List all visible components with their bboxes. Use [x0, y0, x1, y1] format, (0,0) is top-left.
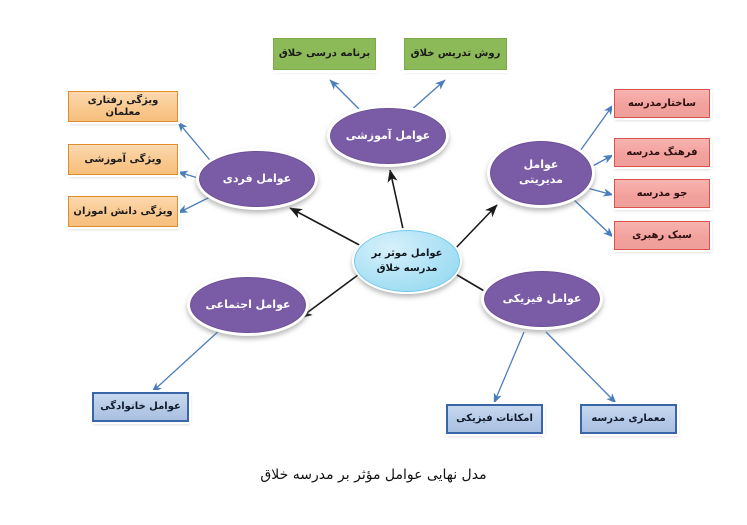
leaf-box-student-trait[interactable]: ویژگی دانش اموزان	[68, 196, 178, 227]
center-node-line1: عوامل موثر بر	[371, 248, 442, 259]
leaf-box-leadership-style[interactable]: سبک رهبری	[614, 221, 710, 250]
leaf-label-teacher-behaviour-trait: ویژگی رفتاری معلمان	[73, 95, 173, 119]
branch-label-physical: عوامل فیزیکی	[484, 292, 600, 307]
leaf-label-family-factors: عوامل خانوادگی	[98, 401, 183, 413]
center-node-line2: مدرسه خلاق	[377, 263, 438, 274]
branch-label-educational: عوامل آموزشی	[330, 129, 446, 144]
branch-label-social: عوامل اجتماعی	[190, 298, 306, 313]
connector-individual-student-trait	[178, 196, 212, 213]
leaf-label-leadership-style: سبک رهبری	[619, 230, 705, 242]
connector-managerial-leadership	[570, 196, 613, 237]
leaf-box-educational-trait[interactable]: ویژگی آموزشی	[68, 144, 178, 175]
leaf-box-teacher-behaviour-trait[interactable]: ویژگی رفتاری معلمان	[68, 91, 178, 122]
branch-label-managerial-line1: عوامل	[524, 158, 559, 171]
center-node-label: عوامل موثر بر مدرسه خلاق	[354, 246, 460, 276]
branch-node-managerial[interactable]: عوامل مدیریتی	[487, 138, 595, 208]
leaf-box-school-structure[interactable]: ساختارمدرسه	[614, 89, 710, 118]
connector-center-social	[300, 272, 362, 318]
connector-physical-architecture	[546, 332, 616, 403]
leaf-box-family-factors[interactable]: عوامل خانوادگی	[92, 392, 189, 422]
leaf-label-student-trait: ویژگی دانش اموزان	[73, 206, 173, 218]
branch-node-social[interactable]: عوامل اجتماعی	[187, 274, 309, 336]
connector-center-individual	[290, 208, 365, 248]
branch-label-managerial: عوامل مدیریتی	[490, 158, 592, 188]
connector-center-managerial	[452, 205, 497, 252]
diagram-canvas: برنامه درسی خلاق روش تدریس خلاق ویژگی رف…	[0, 0, 747, 525]
branch-label-individual: عوامل فردی	[199, 172, 315, 187]
branch-node-individual[interactable]: عوامل فردی	[196, 148, 318, 210]
leaf-box-school-architecture[interactable]: معماری مدرسه	[580, 404, 677, 434]
connector-social-family	[152, 328, 222, 392]
leaf-box-school-climate[interactable]: جو مدرسه	[614, 179, 710, 208]
leaf-label-school-structure: ساختارمدرسه	[619, 98, 705, 110]
leaf-box-school-culture[interactable]: فرهنگ مدرسه	[614, 138, 710, 167]
leaf-box-creative-curriculum[interactable]: برنامه درسی خلاق	[273, 38, 376, 70]
leaf-label-physical-facilities: امکانات فیزیکی	[452, 413, 537, 425]
leaf-label-school-culture: فرهنگ مدرسه	[619, 147, 705, 159]
leaf-label-school-climate: جو مدرسه	[619, 188, 705, 200]
leaf-label-educational-trait: ویژگی آموزشی	[73, 154, 173, 166]
leaf-box-creative-teaching-method[interactable]: روش تدریس خلاق	[404, 38, 507, 70]
leaf-label-creative-curriculum: برنامه درسی خلاق	[278, 48, 371, 60]
connector-physical-facilities	[494, 332, 524, 403]
leaf-box-physical-facilities[interactable]: امکانات فیزیکی	[446, 404, 543, 434]
leaf-label-school-architecture: معماری مدرسه	[586, 413, 671, 425]
center-node[interactable]: عوامل موثر بر مدرسه خلاق	[352, 228, 462, 294]
leaf-label-creative-teaching-method: روش تدریس خلاق	[409, 48, 502, 60]
figure-caption: مدل نهایی عوامل مؤثر بر مدرسه خلاق	[0, 467, 747, 483]
branch-label-managerial-line2: مدیریتی	[519, 173, 563, 186]
branch-node-physical[interactable]: عوامل فیزیکی	[481, 268, 603, 330]
branch-node-educational[interactable]: عوامل آموزشی	[327, 105, 449, 167]
